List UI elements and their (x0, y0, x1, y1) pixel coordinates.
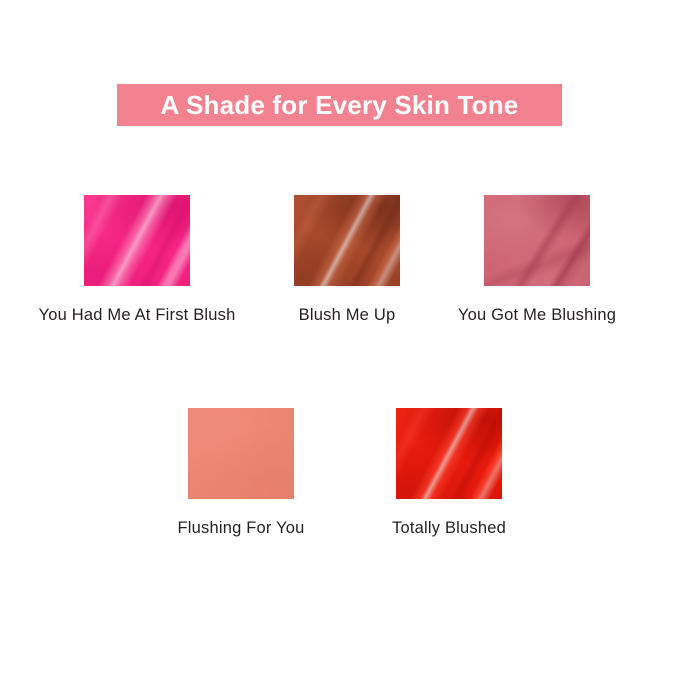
color-swatch-you-had-me-at-first-blush (84, 195, 190, 286)
color-swatch-you-got-me-blushing (484, 195, 590, 286)
title-banner: A Shade for Every Skin Tone (117, 84, 562, 126)
swatch-label: You Got Me Blushing (458, 307, 616, 324)
swatch-fill (84, 195, 190, 286)
product-shade-chart: A Shade for Every Skin Tone You Had Me A… (0, 0, 679, 679)
page-title: A Shade for Every Skin Tone (161, 92, 519, 118)
swatch-cell-3: You Got Me Blushing (484, 195, 590, 286)
swatch-cell-4: Flushing For You (188, 408, 294, 499)
swatch-cell-5: Totally Blushed (396, 408, 502, 499)
swatch-fill (396, 408, 502, 499)
color-swatch-blush-me-up (294, 195, 400, 286)
swatch-fill (484, 195, 590, 286)
color-swatch-totally-blushed (396, 408, 502, 499)
swatch-fill (188, 408, 294, 499)
swatch-label: Flushing For You (177, 520, 304, 537)
swatch-fill (294, 195, 400, 286)
swatch-cell-2: Blush Me Up (294, 195, 400, 286)
color-swatch-flushing-for-you (188, 408, 294, 499)
swatch-label: Blush Me Up (299, 307, 396, 324)
swatch-label: You Had Me At First Blush (39, 307, 236, 324)
swatch-label: Totally Blushed (392, 520, 506, 537)
swatch-cell-1: You Had Me At First Blush (84, 195, 190, 286)
